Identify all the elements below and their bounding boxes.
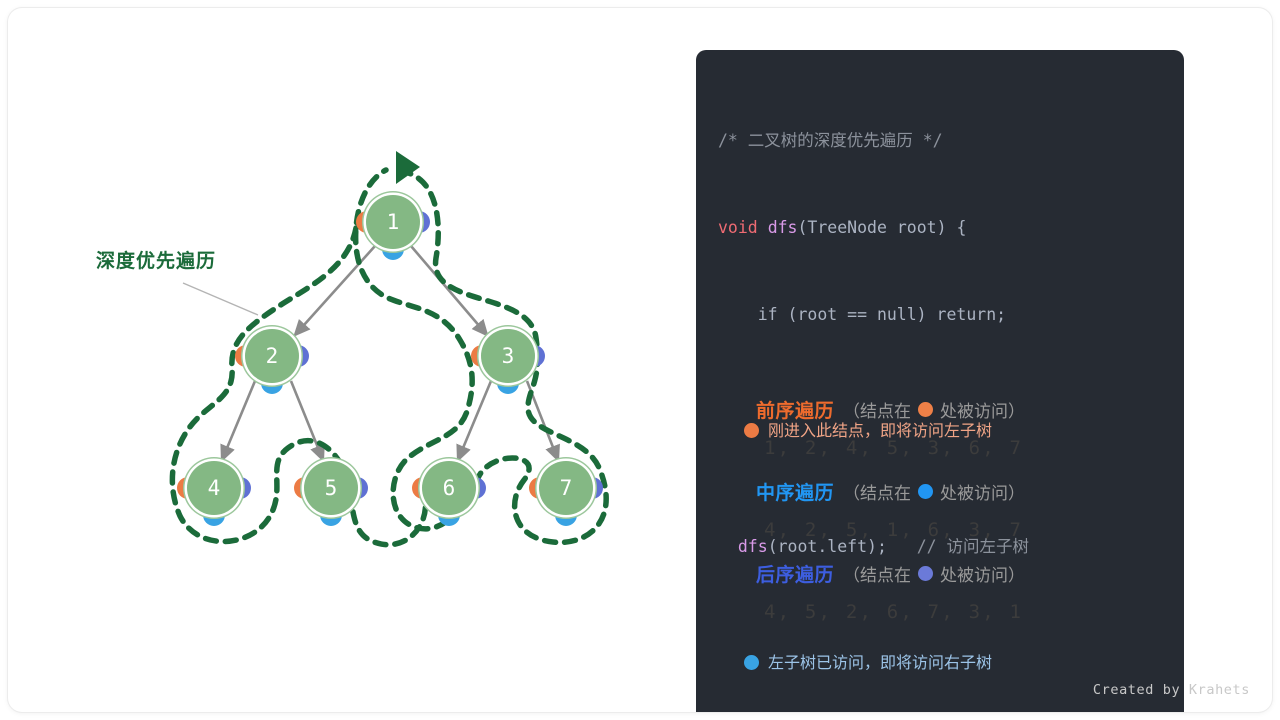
code-line-signature: void dfs(TreeNode root) { xyxy=(718,213,1162,242)
annotation-inorder-text: 左子树已访问，即将访问右子树 xyxy=(768,648,992,677)
node-value-4: 4 xyxy=(187,461,241,515)
edge-2-5 xyxy=(291,381,323,460)
result-group-preorder: 前序遍历 （结点在 处被访问） 1, 2, 4, 5, 3, 6, 7 xyxy=(756,393,1186,459)
code-nullcheck-text: if (root == null) return; xyxy=(718,305,1006,324)
postorder-note-open: （结点在 xyxy=(843,561,911,586)
preorder-sequence: 1, 2, 4, 5, 3, 6, 7 xyxy=(764,437,1186,459)
preorder-note-open: （结点在 xyxy=(843,397,911,422)
node-value-6: 6 xyxy=(422,461,476,515)
node-value-3: 3 xyxy=(481,329,535,383)
pre-order-dot-icon xyxy=(918,402,933,417)
postorder-heading: 后序遍历 （结点在 处被访问） xyxy=(756,557,1186,589)
code-line-nullcheck: if (root == null) return; xyxy=(718,300,1162,329)
inorder-heading: 中序遍历 （结点在 处被访问） xyxy=(756,475,1186,507)
inorder-sequence: 4, 2, 5, 1, 6, 3, 7 xyxy=(764,519,1186,541)
tree-graphics xyxy=(8,8,668,712)
post-order-dot-icon xyxy=(918,566,933,581)
credit-text: Created by Krahets xyxy=(1093,682,1250,698)
postorder-note-close: 处被访问） xyxy=(940,561,1025,586)
code-keyword-void: void xyxy=(718,218,758,237)
result-group-inorder: 中序遍历 （结点在 处被访问） 4, 2, 5, 1, 6, 3, 7 xyxy=(756,475,1186,541)
tree-diagram: 深度优先遍历 1 2 3 4 xyxy=(8,8,668,712)
code-signature-rest: (TreeNode root) { xyxy=(798,218,967,237)
traversal-results: 前序遍历 （结点在 处被访问） 1, 2, 4, 5, 3, 6, 7 中序遍历… xyxy=(756,393,1186,639)
code-function-dfs: dfs xyxy=(768,218,798,237)
edge-1-3 xyxy=(411,246,487,335)
preorder-note-close: 处被访问） xyxy=(940,397,1025,422)
inorder-note-open: （结点在 xyxy=(843,479,911,504)
result-group-postorder: 后序遍历 （结点在 处被访问） 4, 5, 2, 6, 7, 3, 1 xyxy=(756,557,1186,623)
inorder-note-close: 处被访问） xyxy=(940,479,1025,504)
node-value-5: 5 xyxy=(304,461,358,515)
postorder-title: 后序遍历 xyxy=(756,560,834,587)
code-annotation-inorder: 左子树已访问，即将访问右子树 xyxy=(718,648,1162,677)
preorder-title: 前序遍历 xyxy=(756,396,834,423)
node-value-7: 7 xyxy=(539,461,593,515)
node-value-2: 2 xyxy=(245,329,299,383)
label-leader-line xyxy=(183,283,258,315)
code-comment-text: /* 二叉树的深度优先遍历 */ xyxy=(718,131,943,150)
node-value-1: 1 xyxy=(366,195,420,249)
code-line-comment: /* 二叉树的深度优先遍历 */ xyxy=(718,126,1162,155)
figure-card: 深度优先遍历 1 2 3 4 xyxy=(8,8,1272,712)
inorder-title: 中序遍历 xyxy=(756,478,834,505)
in-order-dot-icon xyxy=(918,484,933,499)
dfs-label: 深度优先遍历 xyxy=(96,246,216,273)
postorder-sequence: 4, 5, 2, 6, 7, 3, 1 xyxy=(764,601,1186,623)
in-order-dot-icon xyxy=(744,655,759,670)
preorder-heading: 前序遍历 （结点在 处被访问） xyxy=(756,393,1186,425)
